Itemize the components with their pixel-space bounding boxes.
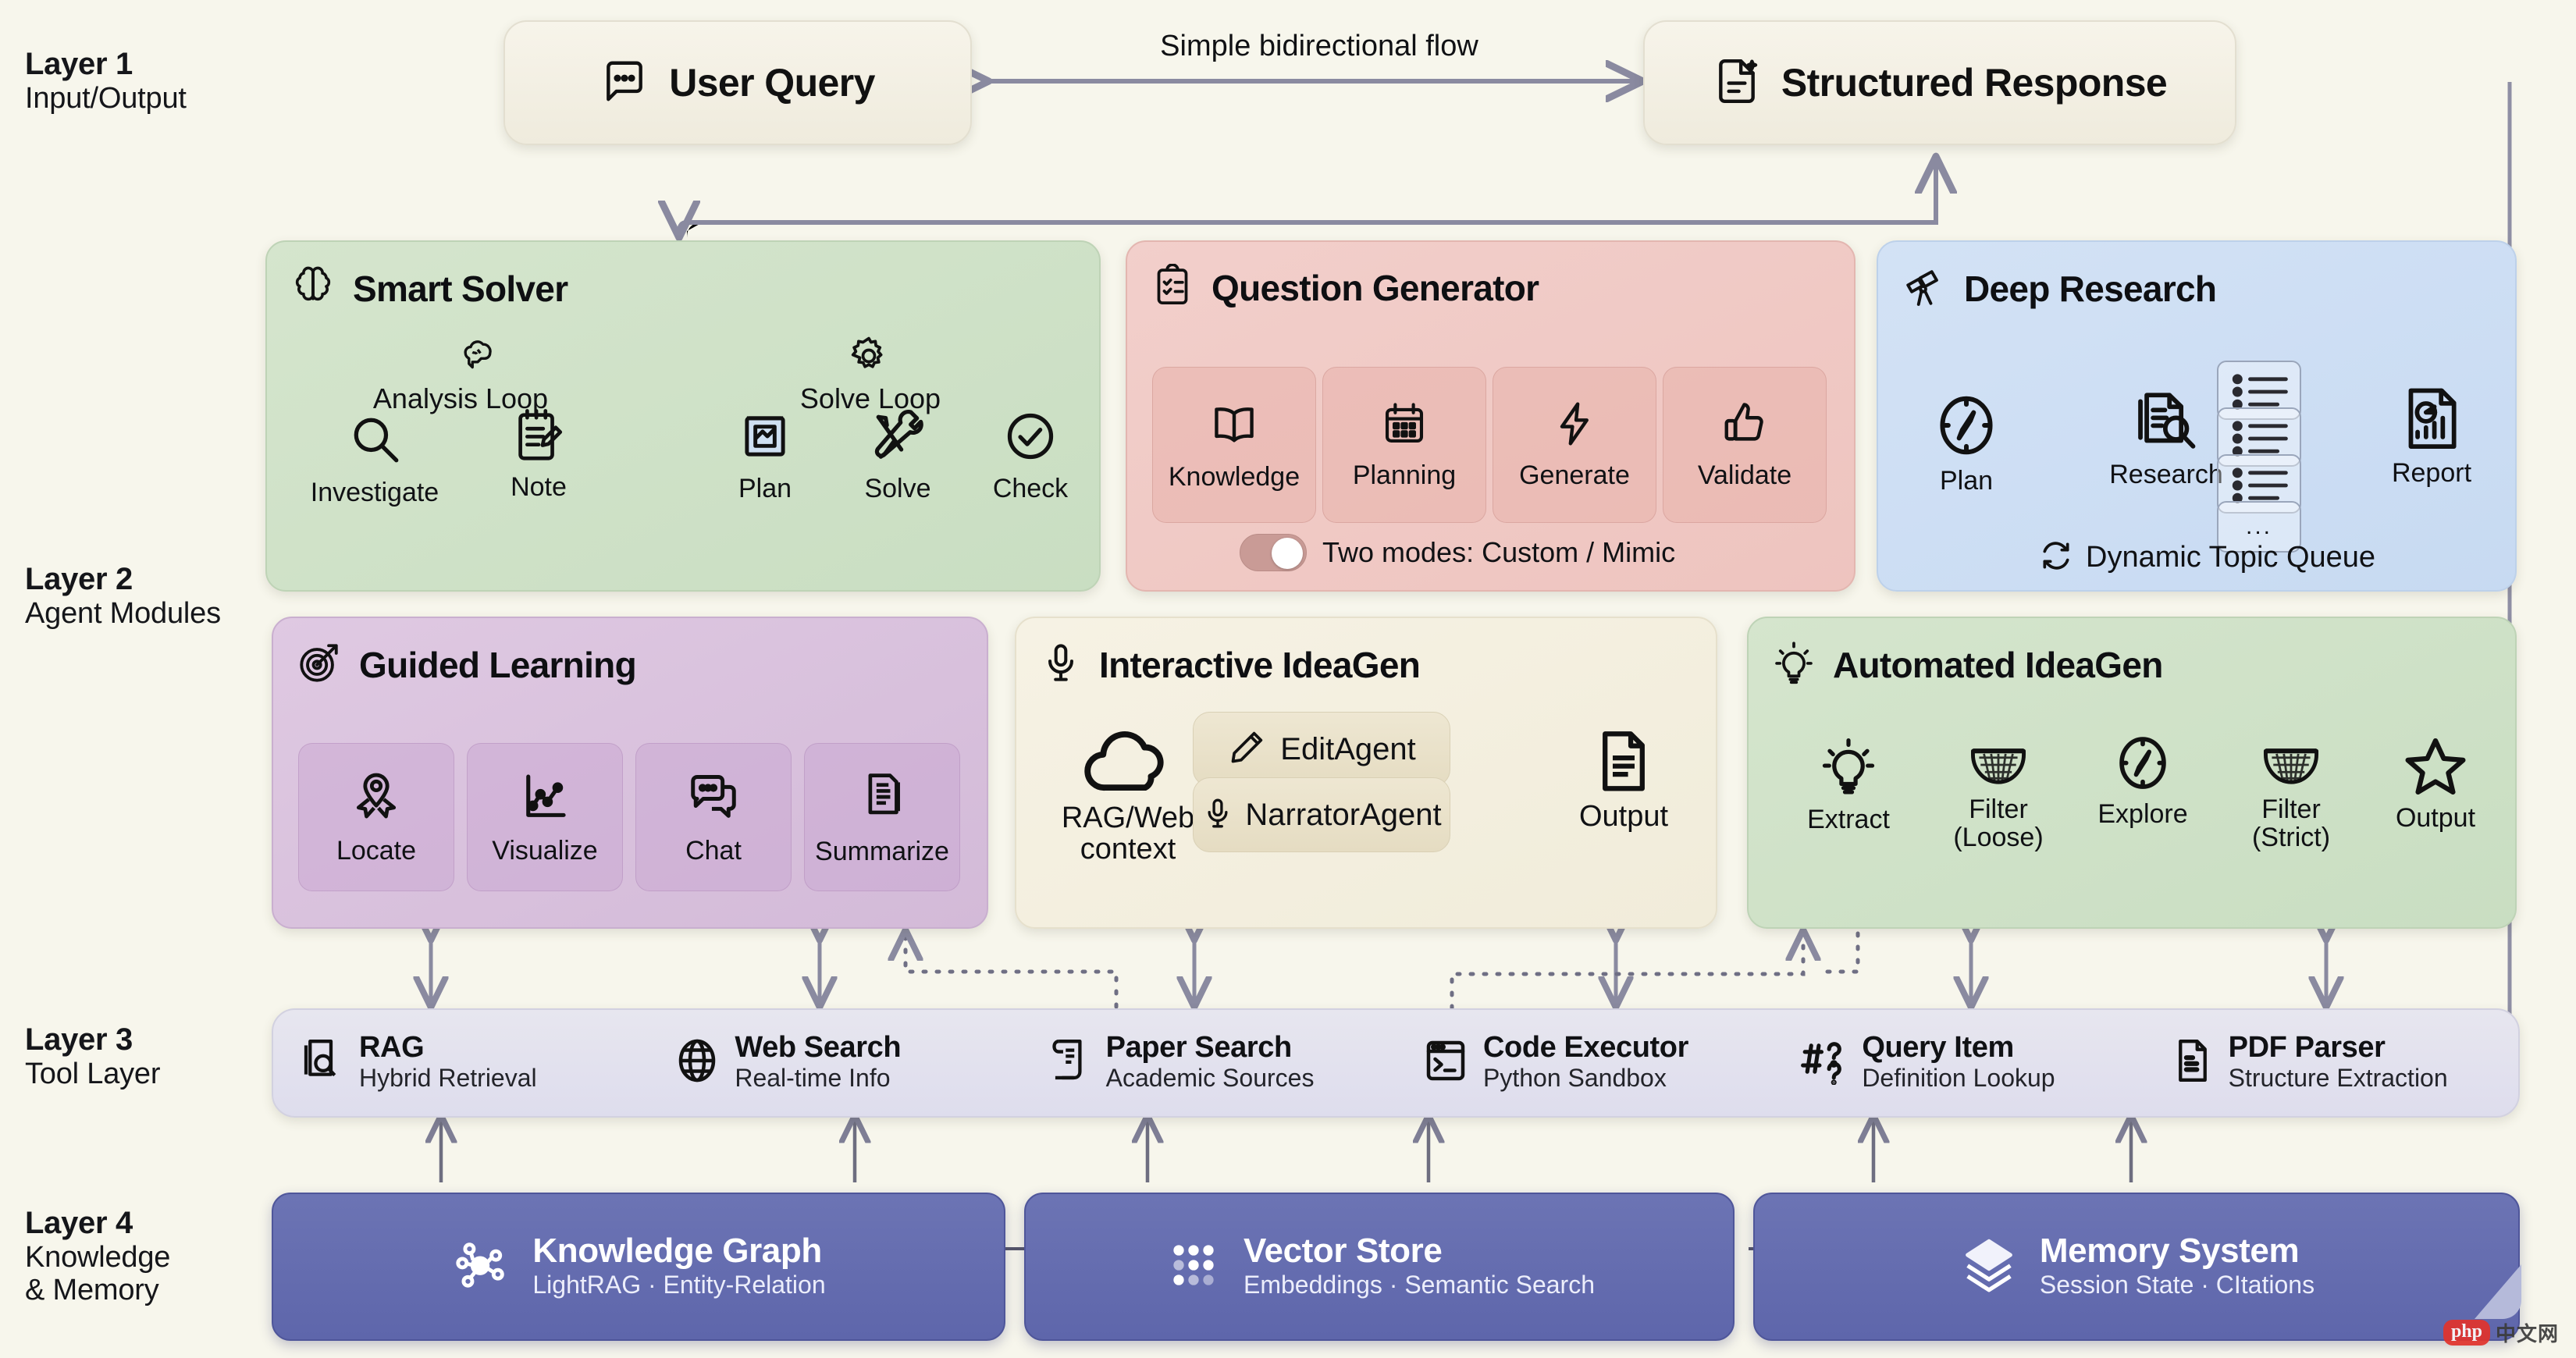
solve-node: Solve bbox=[839, 407, 956, 503]
lightning-bolt-icon bbox=[1550, 400, 1599, 452]
interactive-ideagen-header: Interactive IdeaGen bbox=[1040, 640, 1692, 689]
layer2-sub: Agent Modules bbox=[25, 597, 221, 631]
ai-step-output: Output bbox=[2365, 734, 2506, 832]
analysis-brain-icon bbox=[457, 336, 499, 378]
gl-step-chat[interactable]: Chat bbox=[635, 743, 792, 891]
tool-web-text: Web Search Real-time Info bbox=[735, 1033, 901, 1093]
microphone-icon bbox=[1040, 640, 1082, 689]
rag-search-icon bbox=[300, 1036, 345, 1089]
ai-filter-loose-line2: (Loose) bbox=[1953, 823, 2043, 851]
smart-solver-header: Smart Solver bbox=[290, 264, 1076, 313]
gl-step-summarize[interactable]: Summarize bbox=[804, 743, 960, 891]
qg-generate-label: Generate bbox=[1519, 461, 1630, 489]
tool-pdf-text: PDF Parser Structure Extraction bbox=[2229, 1033, 2448, 1093]
gl-locate-label: Locate bbox=[336, 837, 416, 865]
layer3-sub: Tool Layer bbox=[25, 1058, 160, 1091]
clipboard-check-icon bbox=[1151, 264, 1194, 311]
tool-paper-search[interactable]: Paper Search Academic Sources bbox=[1022, 1033, 1396, 1093]
dr-report-node: Report bbox=[2365, 382, 2498, 487]
qg-step-planning[interactable]: Planning bbox=[1322, 367, 1486, 523]
gl-step-visualize[interactable]: Visualize bbox=[467, 743, 623, 891]
question-generator-title: Question Generator bbox=[1212, 267, 1539, 309]
memory-system-card[interactable]: Memory System Session State · CItations bbox=[1753, 1193, 2520, 1341]
vector-store-sub: Embeddings · Semantic Search bbox=[1244, 1269, 1595, 1300]
dynamic-topic-queue-label: Dynamic Topic Queue bbox=[2086, 541, 2375, 574]
sparkle-document-icon bbox=[1713, 57, 1761, 109]
pencil-icon bbox=[1227, 728, 1266, 771]
hash-question-icon bbox=[1796, 1036, 1848, 1089]
tool-rag-name: RAG bbox=[359, 1033, 537, 1064]
mode-label: Two modes: Custom / Mimic bbox=[1322, 536, 1675, 569]
plan-label: Plan bbox=[738, 475, 792, 503]
tool-query-name: Query Item bbox=[1862, 1033, 2055, 1064]
narrator-agent-chip[interactable]: NarratorAgent bbox=[1193, 777, 1450, 852]
target-icon bbox=[297, 640, 342, 689]
layer4-sub-line1: Knowledge bbox=[25, 1241, 170, 1274]
memory-system-sub: Session State · CItations bbox=[2040, 1269, 2314, 1300]
gl-summarize-label: Summarize bbox=[815, 837, 949, 866]
tool-web-name: Web Search bbox=[735, 1033, 901, 1064]
gl-chat-label: Chat bbox=[685, 837, 742, 865]
tool-code-name: Code Executor bbox=[1483, 1033, 1688, 1064]
chat-bubble-icon bbox=[600, 57, 649, 109]
layer4-title: Layer 4 bbox=[25, 1206, 170, 1241]
user-query-label: User Query bbox=[669, 60, 875, 105]
knowledge-graph-card[interactable]: Knowledge Graph LightRAG · Entity-Relati… bbox=[272, 1193, 1005, 1341]
thumbs-up-icon bbox=[1720, 400, 1769, 452]
tool-web-sub: Real-time Info bbox=[735, 1064, 901, 1093]
automated-ideagen-title: Automated IdeaGen bbox=[1833, 644, 2163, 686]
terminal-icon bbox=[1422, 1036, 1469, 1089]
gear-icon bbox=[847, 334, 891, 378]
gl-step-locate[interactable]: Locate bbox=[298, 743, 454, 891]
watermark-text: 中文网 bbox=[2496, 1318, 2559, 1347]
guided-learning-title: Guided Learning bbox=[359, 644, 636, 686]
ai-filter-strict-line1: Filter bbox=[2261, 795, 2321, 823]
memory-card-fold bbox=[2475, 1264, 2521, 1319]
dr-plan-label: Plan bbox=[1940, 467, 1993, 495]
deep-research-header: Deep Research bbox=[1902, 264, 2492, 313]
tool-code-executor[interactable]: Code Executor Python Sandbox bbox=[1396, 1033, 1770, 1093]
tool-query-sub: Definition Lookup bbox=[1862, 1064, 2055, 1093]
structured-response-box[interactable]: Structured Response bbox=[1643, 20, 2236, 145]
toggle-knob bbox=[1272, 538, 1303, 569]
dr-report-label: Report bbox=[2392, 459, 2471, 487]
book-icon bbox=[1208, 398, 1260, 453]
refresh-cycle-icon bbox=[2039, 539, 2073, 577]
qg-step-generate[interactable]: Generate bbox=[1493, 367, 1656, 523]
watermark: php 中文网 bbox=[2443, 1318, 2559, 1347]
ai-step-filter-strict: Filter (Strict) bbox=[2221, 738, 2361, 851]
qg-validate-label: Validate bbox=[1698, 461, 1791, 489]
check-node: Check bbox=[972, 407, 1089, 503]
layers-icon bbox=[1959, 1235, 2019, 1299]
calendar-icon bbox=[1380, 400, 1429, 452]
tool-web-search[interactable]: Web Search Real-time Info bbox=[647, 1033, 1021, 1093]
layer3-title: Layer 3 bbox=[25, 1022, 160, 1058]
automated-ideagen-header: Automated IdeaGen bbox=[1772, 640, 2492, 689]
tool-rag[interactable]: RAG Hybrid Retrieval bbox=[273, 1033, 647, 1093]
document-icon bbox=[2171, 1036, 2215, 1089]
dr-plan-node: Plan bbox=[1900, 390, 2033, 495]
documents-icon bbox=[856, 768, 908, 828]
layer-label-1: Layer 1 Input/Output bbox=[25, 47, 187, 115]
tool-rag-text: RAG Hybrid Retrieval bbox=[359, 1033, 537, 1093]
tool-query-text: Query Item Definition Lookup bbox=[1862, 1033, 2055, 1093]
qg-step-validate[interactable]: Validate bbox=[1663, 367, 1827, 523]
graph-nodes-icon bbox=[451, 1235, 512, 1299]
vector-store-name: Vector Store bbox=[1244, 1233, 1595, 1269]
tool-pdf-parser[interactable]: PDF Parser Structure Extraction bbox=[2144, 1033, 2518, 1093]
tool-code-sub: Python Sandbox bbox=[1483, 1064, 1688, 1093]
tool-layer-bar: RAG Hybrid Retrieval Web Search Real-tim… bbox=[272, 1008, 2520, 1118]
note-label: Note bbox=[511, 473, 567, 501]
tool-rag-sub: Hybrid Retrieval bbox=[359, 1064, 537, 1093]
tool-paper-name: Paper Search bbox=[1106, 1033, 1315, 1064]
tool-paper-sub: Academic Sources bbox=[1106, 1064, 1315, 1093]
layer1-sub: Input/Output bbox=[25, 82, 187, 116]
check-label: Check bbox=[993, 475, 1068, 503]
deep-research-title: Deep Research bbox=[1964, 268, 2216, 310]
watermark-badge: php bbox=[2443, 1320, 2490, 1346]
microphone-small-icon bbox=[1201, 795, 1234, 836]
investigate-node: Investigate bbox=[312, 410, 437, 507]
map-pin-icon bbox=[350, 769, 403, 827]
solve-label: Solve bbox=[864, 475, 930, 503]
vector-store-text: Vector Store Embeddings · Semantic Searc… bbox=[1244, 1233, 1595, 1300]
layer-label-2: Layer 2 Agent Modules bbox=[25, 562, 221, 630]
ai-extract-label: Extract bbox=[1807, 805, 1890, 834]
ii-output-label: Output bbox=[1579, 801, 1668, 832]
line-chart-icon bbox=[518, 769, 571, 827]
flow-label: Simple bidirectional flow bbox=[1108, 30, 1530, 63]
ii-output-node: Output bbox=[1557, 726, 1690, 832]
edit-agent-chip[interactable]: EditAgent bbox=[1193, 712, 1450, 787]
layer4-sub-line2: & Memory bbox=[25, 1274, 170, 1307]
user-query-box[interactable]: User Query bbox=[503, 20, 972, 145]
telescope-icon bbox=[1902, 264, 1947, 313]
edit-agent-label: EditAgent bbox=[1280, 733, 1415, 766]
gl-visualize-label: Visualize bbox=[492, 837, 597, 865]
ai-explore-label: Explore bbox=[2097, 800, 2187, 828]
qg-planning-label: Planning bbox=[1353, 461, 1456, 489]
dynamic-topic-queue-row: Dynamic Topic Queue bbox=[2039, 539, 2375, 577]
qg-step-knowledge[interactable]: Knowledge bbox=[1152, 367, 1316, 523]
tool-query-item[interactable]: Query Item Definition Lookup bbox=[1770, 1033, 2144, 1093]
guided-learning-header: Guided Learning bbox=[297, 640, 963, 689]
chat-bubbles-icon bbox=[686, 769, 741, 827]
lightbulb-idea-icon bbox=[1772, 640, 1816, 689]
tool-paper-text: Paper Search Academic Sources bbox=[1106, 1033, 1315, 1093]
note-node: Note bbox=[480, 406, 597, 501]
ai-step-extract: Extract bbox=[1778, 734, 1919, 834]
layer2-title: Layer 2 bbox=[25, 562, 221, 597]
memory-system-text: Memory System Session State · CItations bbox=[2040, 1233, 2314, 1300]
tool-pdf-name: PDF Parser bbox=[2229, 1033, 2448, 1064]
qg-knowledge-label: Knowledge bbox=[1169, 463, 1300, 491]
structured-response-label: Structured Response bbox=[1781, 60, 2167, 105]
tool-pdf-sub: Structure Extraction bbox=[2229, 1064, 2448, 1093]
layer-label-3: Layer 3 Tool Layer bbox=[25, 1022, 160, 1090]
dr-queue-more-label: ... bbox=[2246, 514, 2272, 539]
layer-label-4: Layer 4 Knowledge & Memory bbox=[25, 1206, 170, 1307]
globe-icon bbox=[674, 1036, 720, 1089]
memory-system-name: Memory System bbox=[2040, 1233, 2314, 1269]
brain-icon bbox=[290, 264, 336, 313]
interactive-ideagen-title: Interactive IdeaGen bbox=[1099, 644, 1420, 686]
paper-scroll-icon bbox=[1048, 1036, 1092, 1089]
narrator-agent-label: NarratorAgent bbox=[1245, 798, 1441, 831]
vector-store-card[interactable]: Vector Store Embeddings · Semantic Searc… bbox=[1024, 1193, 1735, 1341]
mode-toggle[interactable] bbox=[1240, 534, 1307, 571]
rag-web-line2: context bbox=[1080, 834, 1176, 865]
tool-code-text: Code Executor Python Sandbox bbox=[1483, 1033, 1688, 1093]
rag-web-line1: RAG/Web bbox=[1062, 802, 1194, 834]
investigate-label: Investigate bbox=[311, 478, 439, 507]
ai-filter-loose-line1: Filter bbox=[1969, 795, 2028, 823]
dots-grid-icon bbox=[1164, 1235, 1223, 1299]
question-generator-header: Question Generator bbox=[1151, 264, 1831, 311]
ai-step-filter-loose: Filter (Loose) bbox=[1928, 738, 2069, 851]
dr-research-label: Research bbox=[2109, 460, 2223, 489]
knowledge-graph-name: Knowledge Graph bbox=[532, 1233, 825, 1269]
rag-web-context-node: RAG/Web context bbox=[1038, 726, 1218, 866]
plan-node: Plan bbox=[706, 407, 824, 503]
layer1-title: Layer 1 bbox=[25, 47, 187, 82]
ai-step-explore: Explore bbox=[2073, 730, 2213, 828]
ai-output-label: Output bbox=[2396, 804, 2475, 832]
knowledge-graph-sub: LightRAG · Entity-Relation bbox=[532, 1269, 825, 1300]
smart-solver-title: Smart Solver bbox=[353, 268, 568, 310]
ai-filter-strict-line2: (Strict) bbox=[2252, 823, 2330, 851]
knowledge-graph-text: Knowledge Graph LightRAG · Entity-Relati… bbox=[532, 1233, 825, 1300]
question-generator-mode-row[interactable]: Two modes: Custom / Mimic bbox=[1240, 534, 1675, 571]
